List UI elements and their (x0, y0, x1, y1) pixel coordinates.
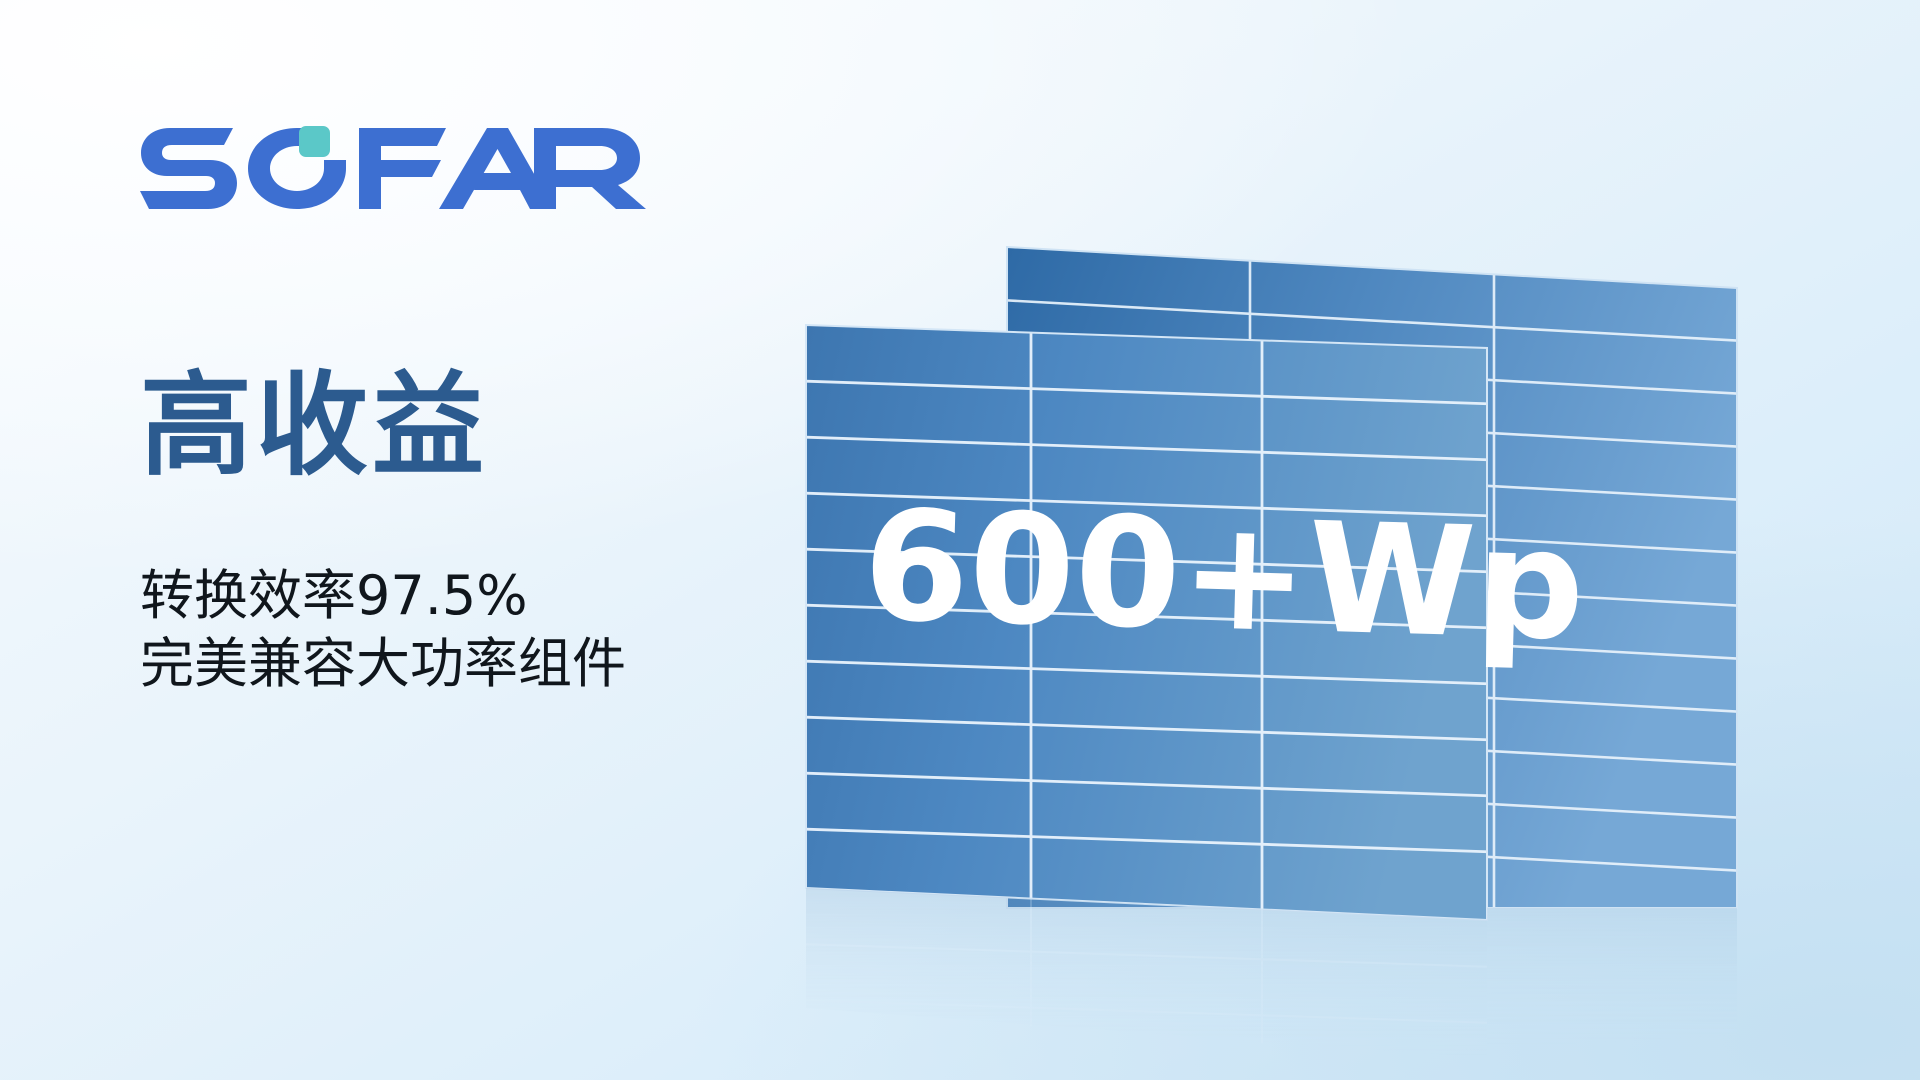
solar-panel-front (800, 318, 1495, 930)
solar-panel-back (1000, 240, 1745, 915)
subtitle-block: 转换效率97.5% 完美兼容大功率组件 (140, 562, 626, 698)
sofar-logo[interactable] (136, 120, 586, 210)
teal-square-accent (299, 126, 330, 157)
logo-letter-r-mark (530, 120, 650, 210)
subtitle-line-2: 完美兼容大功率组件 (140, 630, 626, 698)
page-title: 高收益 (140, 370, 488, 482)
sofar-logo-mark (136, 120, 586, 210)
subtitle-line-1: 转换效率97.5% (140, 562, 626, 630)
panel-reflection (800, 880, 1737, 1060)
power-badge: 600+Wp (861, 477, 1587, 674)
banner-canvas: 高收益 转换效率97.5% 完美兼容大功率组件 (0, 0, 1920, 1080)
